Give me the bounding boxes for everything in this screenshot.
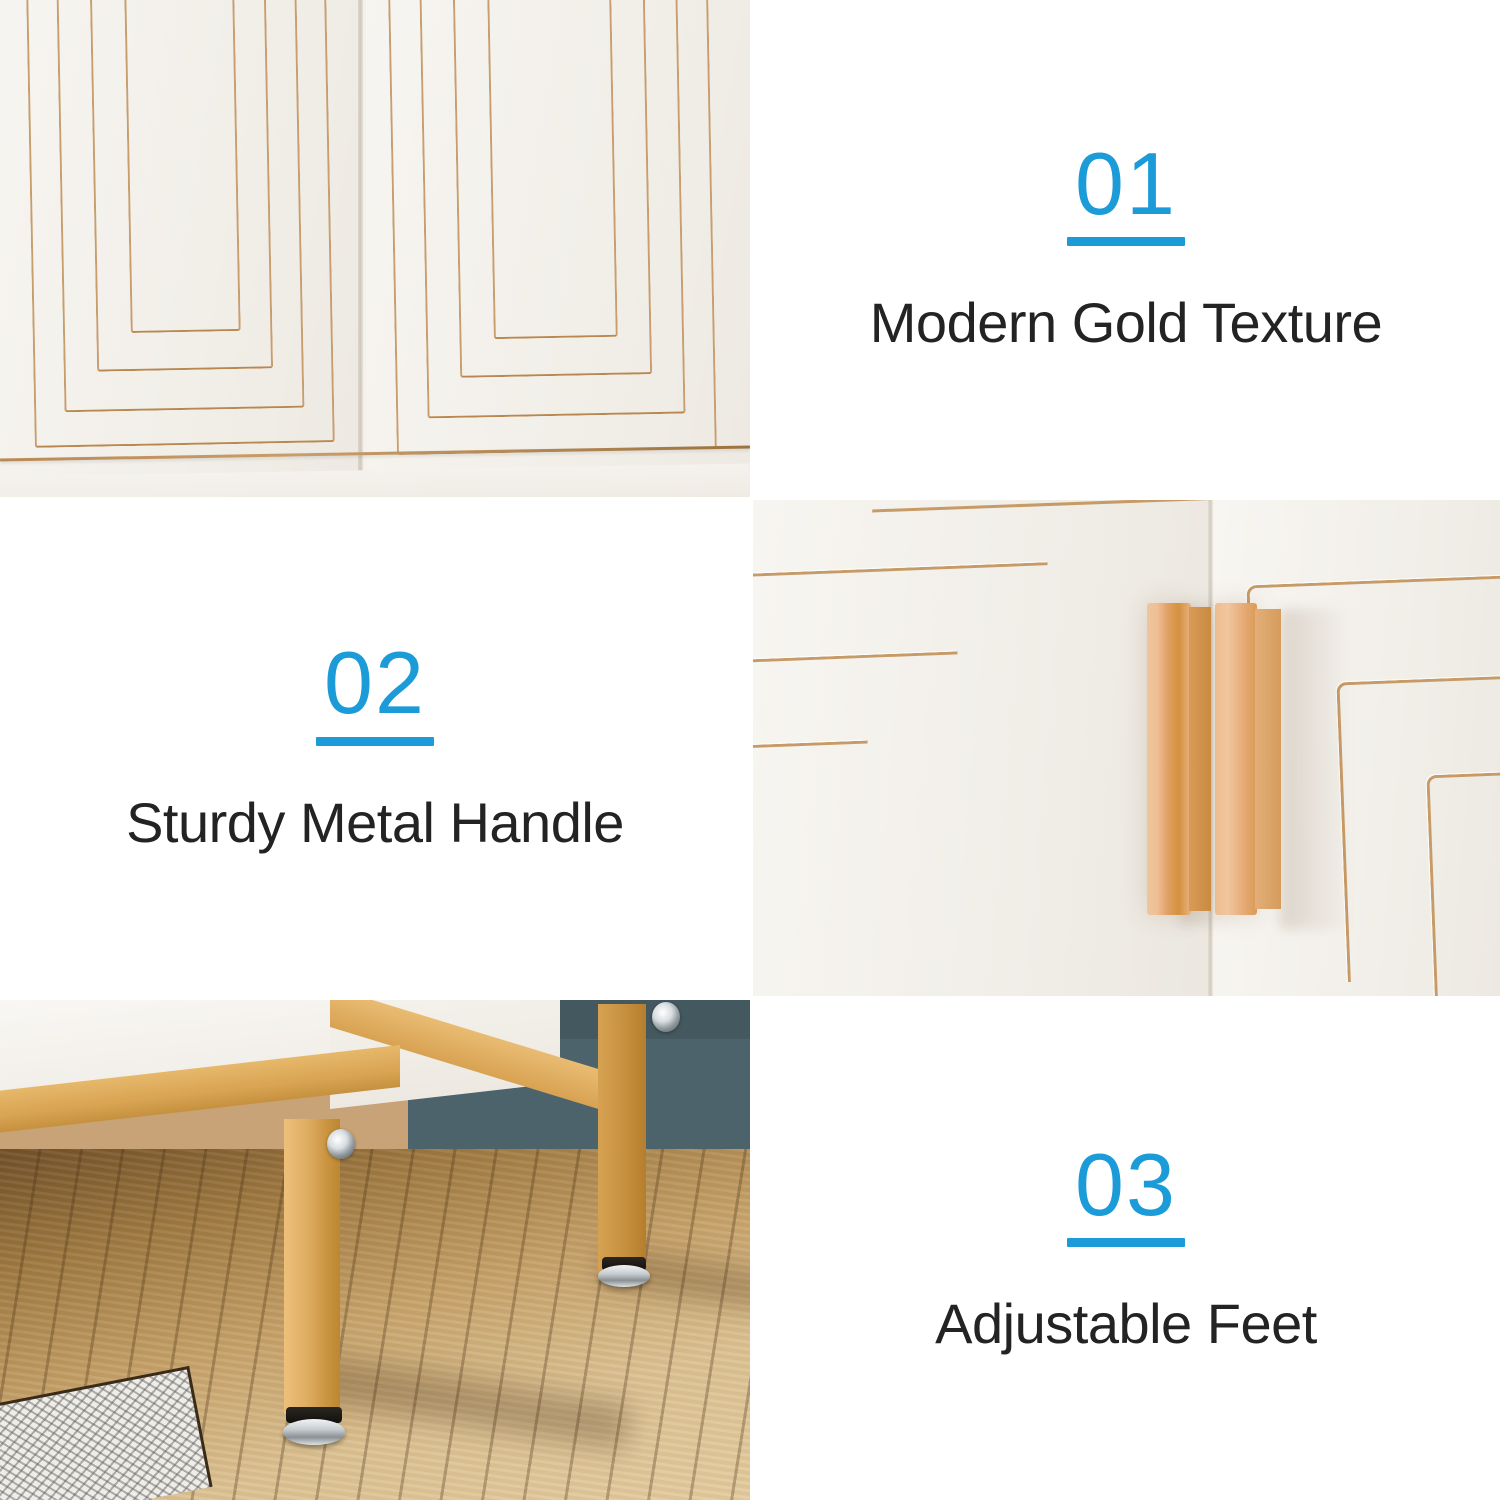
gold-groove-line: [486, 0, 618, 339]
screw-icon: [327, 1129, 355, 1159]
infographic-board: 01 Modern Gold Texture 02 Sturdy Metal H…: [0, 0, 1500, 1500]
feature-number-02: 02: [324, 641, 426, 725]
handle-shadow: [1280, 609, 1350, 929]
adjustable-foot-back[interactable]: [598, 1265, 650, 1287]
metal-handle-left[interactable]: [1147, 603, 1191, 915]
gold-step-line: [1426, 767, 1500, 997]
screw-icon: [652, 1002, 680, 1032]
feature-caption-01: Modern Gold Texture: [870, 290, 1382, 355]
feature-number-01: 01: [1075, 142, 1177, 226]
feature-block-03: 03 Adjustable Feet: [752, 999, 1500, 1500]
feature-number-underline-03: [1067, 1238, 1185, 1247]
feature-number-wrap-03: 03: [1067, 1143, 1185, 1248]
cabinet-leg-front: [284, 1119, 340, 1414]
feature-number-03: 03: [1075, 1143, 1177, 1227]
gold-step-line: [752, 740, 876, 979]
photo-cabinet-doors: [0, 0, 750, 497]
feature-number-underline-01: [1067, 237, 1185, 246]
handle-facet-left: [1189, 607, 1211, 911]
feature-number-wrap-01: 01: [1067, 142, 1185, 247]
grid-divider-horizontal-1: [0, 497, 1500, 500]
door-seam: [358, 0, 363, 497]
feature-block-02: 02 Sturdy Metal Handle: [0, 499, 750, 997]
grid-divider-vertical: [750, 0, 753, 1500]
adjustable-foot-front[interactable]: [283, 1419, 345, 1445]
feature-number-wrap-02: 02: [316, 641, 434, 746]
feature-block-01: 01 Modern Gold Texture: [752, 0, 1500, 497]
cabinet-leg-back: [598, 1004, 646, 1274]
feature-caption-03: Adjustable Feet: [935, 1291, 1317, 1356]
photo-adjustable-feet: [0, 999, 750, 1500]
feature-number-underline-02: [316, 737, 434, 746]
gold-groove-line: [123, 0, 241, 333]
handle-facet-right: [1255, 609, 1281, 909]
feature-caption-02: Sturdy Metal Handle: [126, 790, 624, 855]
grid-divider-horizontal-2: [0, 996, 1500, 1000]
metal-handle-right[interactable]: [1215, 603, 1257, 915]
photo-metal-handle: [752, 499, 1500, 997]
